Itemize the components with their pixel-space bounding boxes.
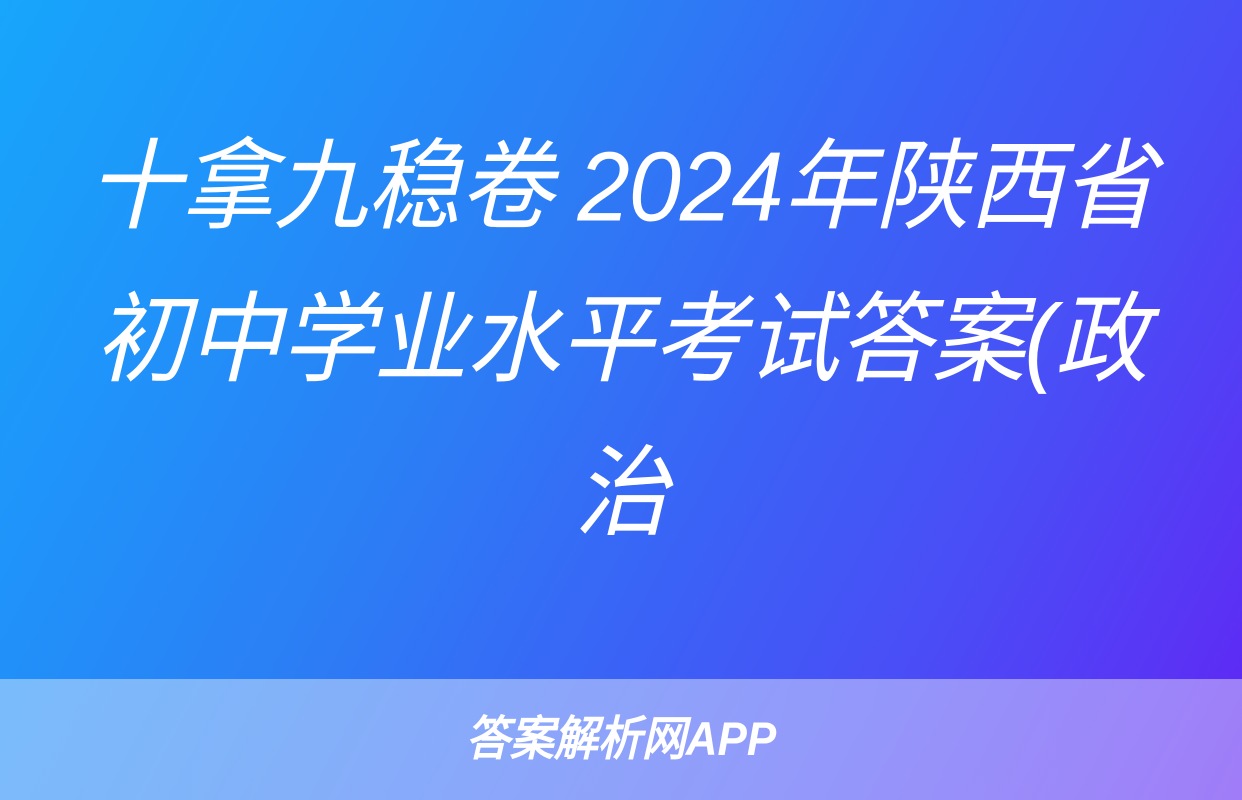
poster-canvas: 十拿九稳卷 2024年陕西省初中学业水平考试答案(政治 答案解析网APP (0, 0, 1242, 800)
footer-watermark-band: 答案解析网APP (0, 679, 1242, 800)
watermark-brand-label: 答案解析网APP (466, 715, 776, 765)
page-title: 十拿九稳卷 2024年陕西省初中学业水平考试答案(政治 (81, 110, 1161, 570)
title-area: 十拿九稳卷 2024年陕西省初中学业水平考试答案(政治 (0, 0, 1242, 679)
